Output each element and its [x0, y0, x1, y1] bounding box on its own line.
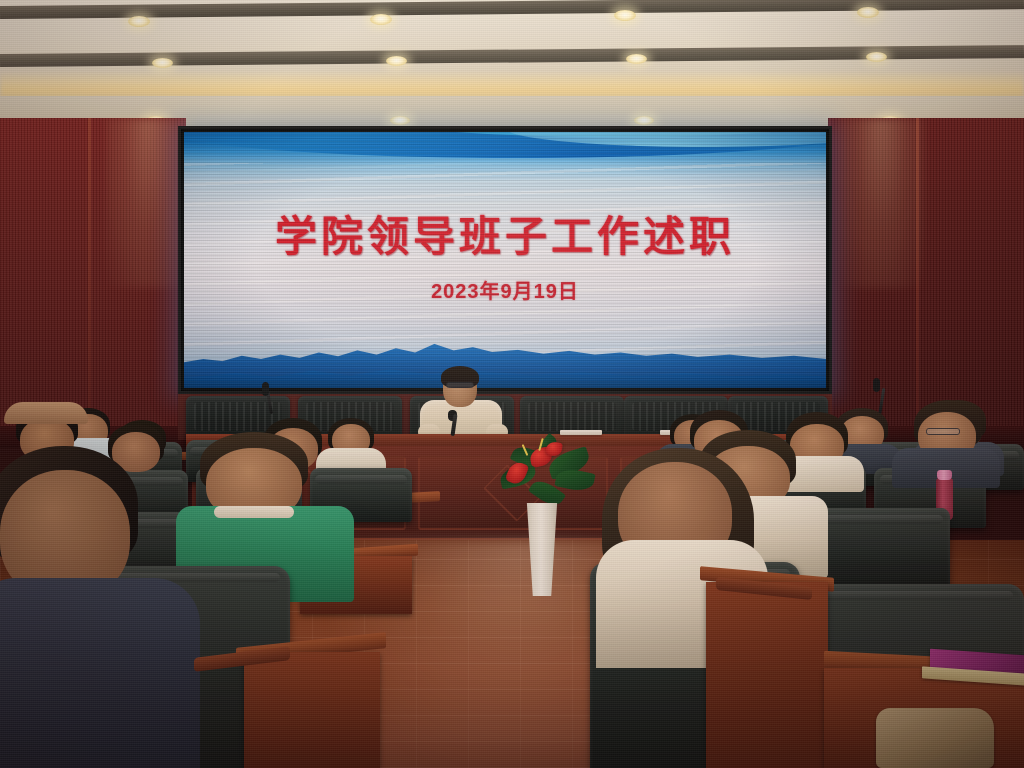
- desk-front-left-body: [244, 652, 380, 768]
- head-table-paper-1: [560, 430, 602, 435]
- bag-beige-under-desk: [876, 708, 994, 768]
- attendee-row3-l1-arms-up: [4, 402, 88, 424]
- conference-room-photograph: 学院领导班子工作述职 2023年9月19日: [0, 0, 1024, 768]
- downlight-r2-3: [626, 54, 647, 64]
- downlight-r3-2: [390, 116, 410, 125]
- head-table-microphone-left-head: [262, 382, 269, 396]
- downlight-r1-4: [857, 7, 879, 18]
- downlight-r3-3: [634, 116, 654, 125]
- downlight-r1-1: [128, 16, 150, 27]
- attendee-front-left-body: [0, 578, 200, 768]
- water-bottle-cap-right: [937, 470, 952, 480]
- downlight-r2-2: [386, 56, 407, 66]
- slide-title: 学院领导班子工作述职: [184, 216, 826, 258]
- slide-date: 2023年9月19日: [184, 275, 826, 304]
- desk-front-right-body: [706, 582, 828, 768]
- downlight-r2-1: [152, 58, 173, 68]
- wall-right: [828, 118, 1024, 448]
- head-table-microphone-right-head: [873, 378, 880, 392]
- downlight-r1-3: [614, 10, 636, 21]
- wall-light-wash-right: [838, 118, 924, 288]
- wall-seam-left: [88, 118, 91, 448]
- chair-row2-r2[interactable]: [812, 508, 950, 588]
- attendee-row3-r3-glasses: [926, 428, 960, 435]
- ceiling: [0, 0, 1024, 132]
- downlight-r2-4: [866, 52, 887, 62]
- led-display-frame[interactable]: 学院领导班子工作述职 2023年9月19日: [178, 126, 832, 394]
- speaker-glasses: [446, 382, 474, 388]
- downlight-r1-2: [370, 14, 392, 25]
- wall-left: [0, 118, 186, 448]
- slide-cloud-streaks: [184, 163, 826, 363]
- led-display-panel: 学院领导班子工作述职 2023年9月19日: [184, 132, 826, 388]
- attendee-row2-green-collar: [214, 506, 294, 518]
